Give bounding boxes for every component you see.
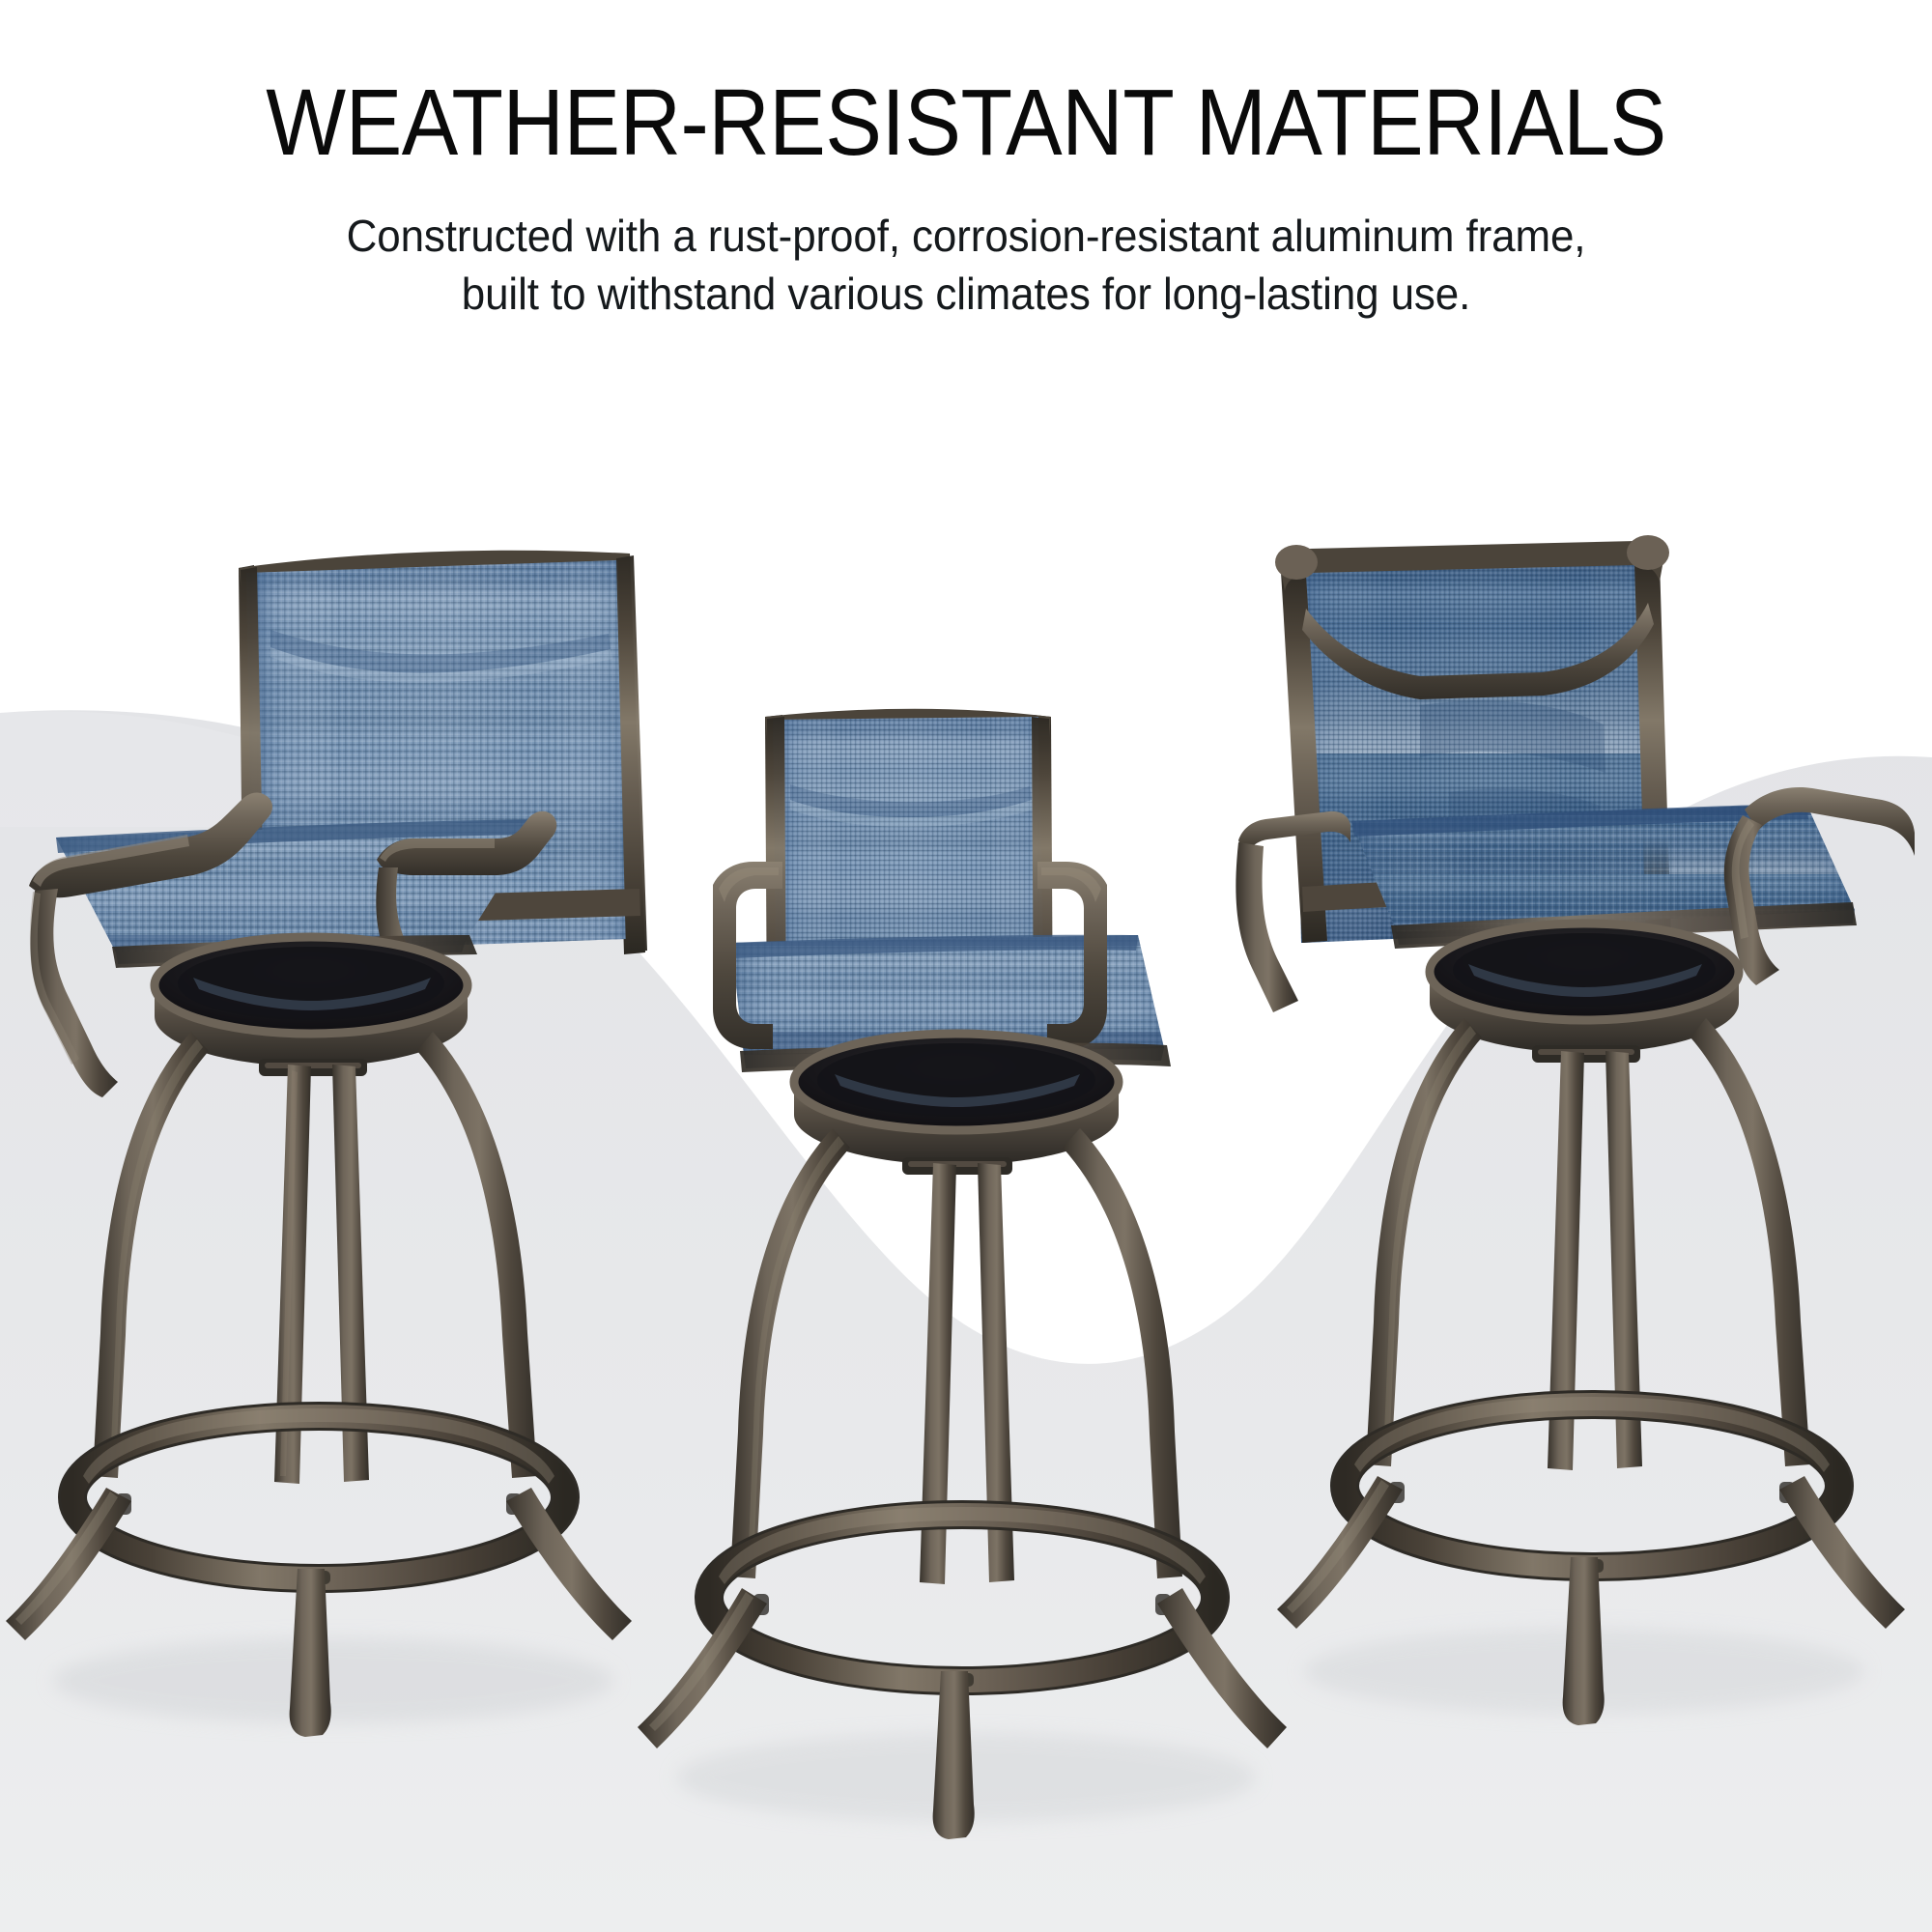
page-title: WEATHER-RESISTANT MATERIALS bbox=[92, 75, 1840, 169]
subtitle-line-2: built to withstand various climates for … bbox=[43, 266, 1889, 324]
subtitle-line-1: Constructed with a rust-proof, corrosion… bbox=[43, 208, 1889, 266]
product-photo bbox=[0, 406, 1932, 1932]
copy-block: WEATHER-RESISTANT MATERIALS Constructed … bbox=[0, 0, 1932, 324]
banner-stage: WEATHER-RESISTANT MATERIALS Constructed … bbox=[0, 0, 1932, 1932]
subtitle: Constructed with a rust-proof, corrosion… bbox=[0, 208, 1932, 324]
